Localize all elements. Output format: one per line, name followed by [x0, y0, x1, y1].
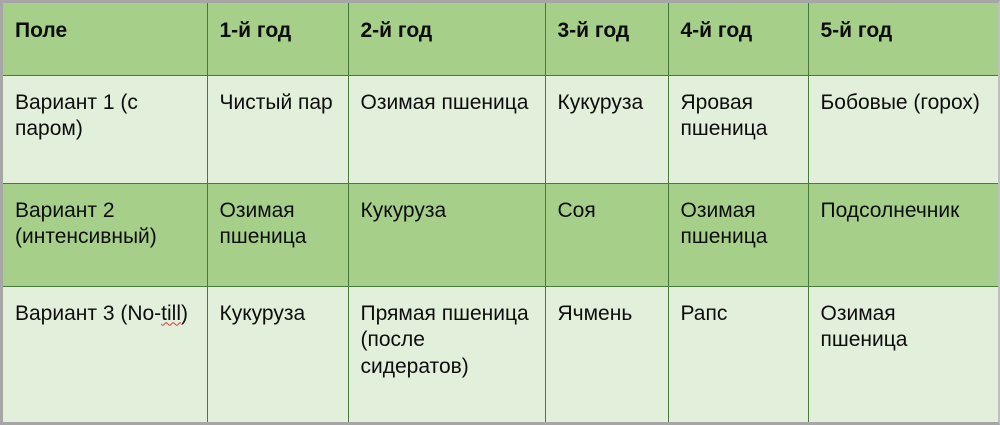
cell-year-1-text: Чистый пар	[220, 90, 336, 117]
cell-year-2-text: Озимая пшеница	[361, 90, 533, 117]
cell-field-text: Вариант 2 (интенсивный)	[15, 198, 195, 252]
cell-year-5: Озимая пшеница	[808, 286, 998, 422]
cell-field-text: Вариант 3 (No-till)	[15, 301, 195, 328]
cell-year-3: Соя	[545, 183, 668, 286]
cell-year-2: Кукуруза	[348, 183, 545, 286]
cell-field-text-pre: Вариант 3 (No-	[15, 302, 161, 325]
cell-year-2-text: Прямая пшеница (после сидератов)	[361, 301, 533, 382]
cell-year-4: Рапс	[668, 286, 808, 422]
cell-year-3-text: Соя	[558, 198, 656, 225]
table-row: Вариант 1 (с паром) Чистый пар Озимая пш…	[3, 75, 998, 183]
column-header-year-3-label: 3-й год	[558, 18, 656, 45]
cell-year-5: Бобовые (горох)	[808, 75, 998, 183]
cell-year-5-text: Озимая пшеница	[821, 301, 987, 355]
cell-year-2: Прямая пшеница (после сидератов)	[348, 286, 545, 422]
column-header-year-5: 5-й год	[808, 3, 998, 75]
spellcheck-misspelled-word: till	[161, 302, 181, 325]
column-header-year-1: 1-й год	[207, 3, 348, 75]
column-header-year-1-label: 1-й год	[220, 18, 336, 45]
cell-year-2-text: Кукуруза	[361, 198, 533, 225]
column-header-year-5-label: 5-й год	[821, 18, 987, 45]
cell-field-text-post: )	[181, 302, 188, 325]
column-header-field-label: Поле	[15, 18, 195, 45]
crop-rotation-table-container: Поле 1-й год 2-й год 3-й год 4-й год 5-й…	[0, 0, 1000, 425]
cell-field: Вариант 2 (интенсивный)	[3, 183, 207, 286]
column-header-year-3: 3-й год	[545, 3, 668, 75]
cell-year-1-text: Кукуруза	[220, 301, 336, 328]
cell-year-4: Яровая пшеница	[668, 75, 808, 183]
crop-rotation-table: Поле 1-й год 2-й год 3-й год 4-й год 5-й…	[3, 3, 998, 422]
cell-year-4-text: Озимая пшеница	[681, 198, 796, 252]
cell-field-text: Вариант 1 (с паром)	[15, 90, 195, 144]
table-row: Вариант 3 (No-till) Кукуруза Прямая пшен…	[3, 286, 998, 422]
cell-year-5: Подсолнечник	[808, 183, 998, 286]
column-header-year-2: 2-й год	[348, 3, 545, 75]
cell-year-1: Кукуруза	[207, 286, 348, 422]
cell-year-5-text: Бобовые (горох)	[821, 90, 987, 117]
cell-year-3-text: Ячмень	[558, 301, 656, 328]
cell-year-4-text: Яровая пшеница	[681, 90, 796, 144]
cell-year-1: Чистый пар	[207, 75, 348, 183]
cell-year-3: Ячмень	[545, 286, 668, 422]
column-header-year-4: 4-й год	[668, 3, 808, 75]
cell-field: Вариант 3 (No-till)	[3, 286, 207, 422]
cell-year-1: Озимая пшеница	[207, 183, 348, 286]
cell-year-4: Озимая пшеница	[668, 183, 808, 286]
table-row: Вариант 2 (интенсивный) Озимая пшеница К…	[3, 183, 998, 286]
cell-year-3-text: Кукуруза	[558, 90, 656, 117]
cell-year-2: Озимая пшеница	[348, 75, 545, 183]
cell-year-5-text: Подсолнечник	[821, 198, 987, 225]
cell-field: Вариант 1 (с паром)	[3, 75, 207, 183]
cell-year-1-text: Озимая пшеница	[220, 198, 336, 252]
cell-year-3: Кукуруза	[545, 75, 668, 183]
table-header-row: Поле 1-й год 2-й год 3-й год 4-й год 5-й…	[3, 3, 998, 75]
column-header-year-2-label: 2-й год	[361, 18, 533, 45]
column-header-year-4-label: 4-й год	[681, 18, 796, 45]
column-header-field: Поле	[3, 3, 207, 75]
cell-year-4-text: Рапс	[681, 301, 796, 328]
